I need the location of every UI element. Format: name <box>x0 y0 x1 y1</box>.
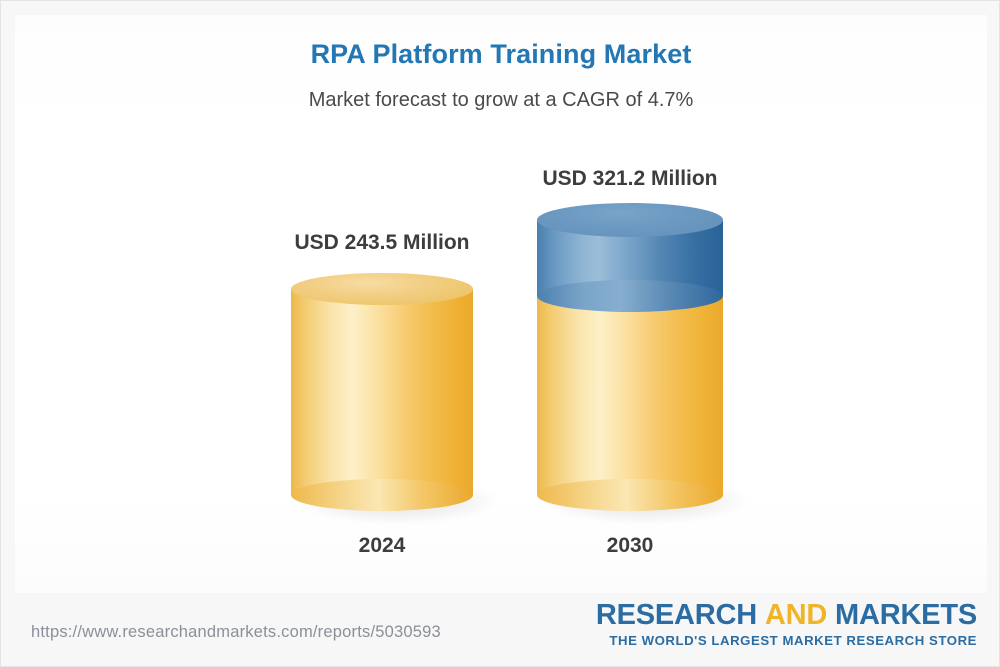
chart-canvas: RPA Platform Training Market Market fore… <box>0 0 1000 667</box>
bar-value-label-2024: USD 243.5 Million <box>256 231 508 255</box>
cylinder-top-2030 <box>537 203 723 237</box>
bar-group-2024: USD 243.5 Million 2024 <box>256 151 508 571</box>
cylinder-top-2024 <box>291 273 473 305</box>
chart-title: RPA Platform Training Market <box>1 39 1000 70</box>
cylinder-bottom-2024 <box>291 479 473 511</box>
logo-word-markets: MARKETS <box>835 599 977 631</box>
logo-tagline: THE WORLD'S LARGEST MARKET RESEARCH STOR… <box>596 633 977 648</box>
bar-value-label-2030: USD 321.2 Million <box>504 167 756 191</box>
bar-group-2030: USD 321.2 Million 2030 <box>504 151 756 571</box>
cylinder-2030 <box>537 203 723 518</box>
category-label-2024: 2024 <box>256 534 508 558</box>
logo-wordmark: RESEARCH AND MARKETS <box>596 601 977 630</box>
cylinder-2024 <box>291 273 473 518</box>
source-url[interactable]: https://www.researchandmarkets.com/repor… <box>31 623 441 642</box>
cylinder-bottom-2030 <box>537 479 723 511</box>
research-and-markets-logo[interactable]: RESEARCH AND MARKETS THE WORLD'S LARGEST… <box>596 601 977 648</box>
logo-word-research: RESEARCH <box>596 599 757 631</box>
logo-word-and: AND <box>765 599 827 631</box>
cylinder-body-base-2030 <box>537 295 723 495</box>
chart-subtitle: Market forecast to grow at a CAGR of 4.7… <box>1 89 1000 112</box>
cylinder-body-2024 <box>291 289 473 495</box>
cylinder-segment-seam-2030 <box>537 280 723 312</box>
category-label-2030: 2030 <box>504 534 756 558</box>
